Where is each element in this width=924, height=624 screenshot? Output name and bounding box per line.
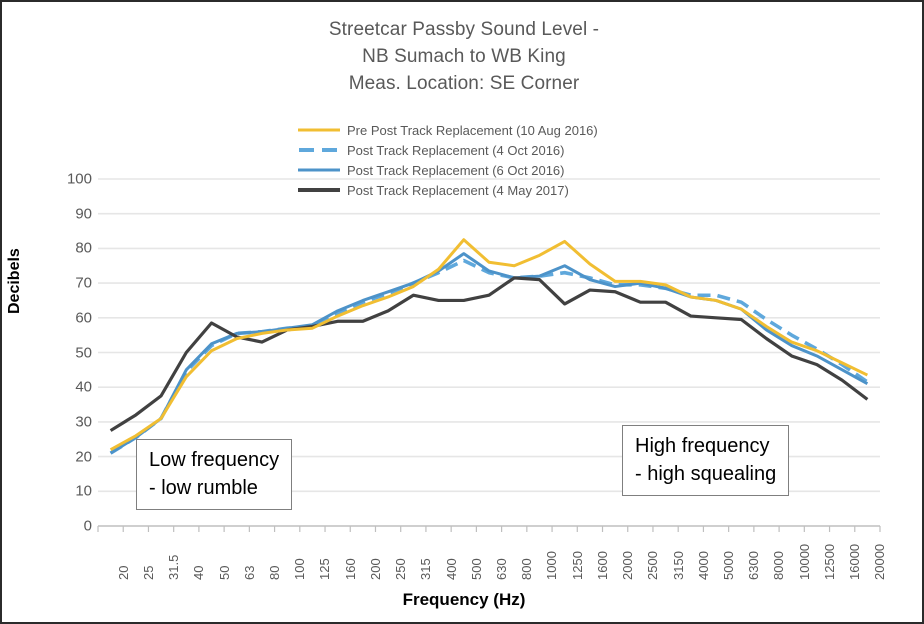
x-tick-label: 8000 bbox=[771, 551, 786, 580]
legend-item[interactable]: Post Track Replacement (6 Oct 2016) bbox=[298, 160, 698, 180]
x-tick-label: 6300 bbox=[746, 551, 761, 580]
y-tick-label: 90 bbox=[40, 205, 92, 222]
chart-title: Streetcar Passby Sound Level - NB Sumach… bbox=[2, 16, 924, 97]
x-tick-label: 20000 bbox=[872, 544, 887, 580]
x-tick-label: 400 bbox=[444, 558, 459, 580]
y-tick-label: 30 bbox=[40, 413, 92, 430]
chart-container: Streetcar Passby Sound Level - NB Sumach… bbox=[0, 0, 924, 624]
x-tick-label: 125 bbox=[317, 558, 332, 580]
annotation-low-frequency-line-2: - low rumble bbox=[149, 474, 279, 502]
x-tick-label: 25 bbox=[141, 566, 156, 580]
x-tick-label: 315 bbox=[418, 558, 433, 580]
x-tick-label: 1600 bbox=[595, 551, 610, 580]
annotation-high-frequency-line-1: High frequency bbox=[635, 432, 776, 460]
y-axis-title: Decibels bbox=[6, 248, 24, 314]
x-tick-label: 1000 bbox=[544, 551, 559, 580]
chart-title-line-2: NB Sumach to WB King bbox=[2, 43, 924, 70]
y-tick-label: 80 bbox=[40, 240, 92, 257]
y-tick-label: 40 bbox=[40, 379, 92, 396]
x-tick-label: 40 bbox=[191, 566, 206, 580]
legend-label-1: Pre Post Track Replacement (10 Aug 2016) bbox=[347, 123, 598, 138]
y-tick-label: 0 bbox=[40, 518, 92, 535]
x-tick-label: 20 bbox=[116, 566, 131, 580]
x-axis-title: Frequency (Hz) bbox=[2, 590, 924, 610]
x-tick-label: 100 bbox=[292, 558, 307, 580]
legend-swatch-1 bbox=[298, 124, 340, 136]
x-tick-label: 1250 bbox=[570, 551, 585, 580]
x-tick-label: 31.5 bbox=[166, 555, 181, 580]
x-tick-label: 63 bbox=[242, 566, 257, 580]
x-tick-label: 16000 bbox=[847, 544, 862, 580]
y-tick-label: 50 bbox=[40, 344, 92, 361]
annotation-high-frequency: High frequency - high squealing bbox=[622, 425, 789, 496]
x-tick-label: 50 bbox=[217, 566, 232, 580]
x-tick-label: 800 bbox=[519, 558, 534, 580]
legend-swatch-2 bbox=[298, 144, 340, 156]
x-tick-label: 10000 bbox=[797, 544, 812, 580]
x-tick-label: 5000 bbox=[721, 551, 736, 580]
x-tick-label: 250 bbox=[393, 558, 408, 580]
y-tick-label: 60 bbox=[40, 309, 92, 326]
y-tick-label: 100 bbox=[40, 171, 92, 188]
x-tick-label: 3150 bbox=[671, 551, 686, 580]
x-tick-label: 200 bbox=[368, 558, 383, 580]
chart-title-line-3: Meas. Location: SE Corner bbox=[2, 70, 924, 97]
legend-item[interactable]: Post Track Replacement (4 Oct 2016) bbox=[298, 140, 698, 160]
x-tick-label: 2000 bbox=[620, 551, 635, 580]
series-line-4 bbox=[111, 278, 868, 431]
x-tick-label: 630 bbox=[494, 558, 509, 580]
y-tick-label: 10 bbox=[40, 483, 92, 500]
x-tick-label: 160 bbox=[343, 558, 358, 580]
x-tick-label: 4000 bbox=[696, 551, 711, 580]
legend-label-3: Post Track Replacement (6 Oct 2016) bbox=[347, 163, 564, 178]
annotation-low-frequency-line-1: Low frequency bbox=[149, 446, 279, 474]
y-axis-tick-labels: 0102030405060708090100 bbox=[40, 179, 92, 526]
legend-swatch-3 bbox=[298, 164, 340, 176]
x-tick-label: 12500 bbox=[822, 544, 837, 580]
annotation-high-frequency-line-2: - high squealing bbox=[635, 460, 776, 488]
x-tick-label: 500 bbox=[469, 558, 484, 580]
x-axis-tick-labels: 202531.540506380100125160200250315400500… bbox=[98, 530, 880, 586]
legend-item[interactable]: Pre Post Track Replacement (10 Aug 2016) bbox=[298, 120, 698, 140]
chart-title-line-1: Streetcar Passby Sound Level - bbox=[2, 16, 924, 43]
x-tick-label: 80 bbox=[267, 566, 282, 580]
legend-label-2: Post Track Replacement (4 Oct 2016) bbox=[347, 143, 564, 158]
x-tick-label: 2500 bbox=[645, 551, 660, 580]
y-tick-label: 70 bbox=[40, 275, 92, 292]
y-tick-label: 20 bbox=[40, 448, 92, 465]
annotation-low-frequency: Low frequency - low rumble bbox=[136, 439, 292, 510]
